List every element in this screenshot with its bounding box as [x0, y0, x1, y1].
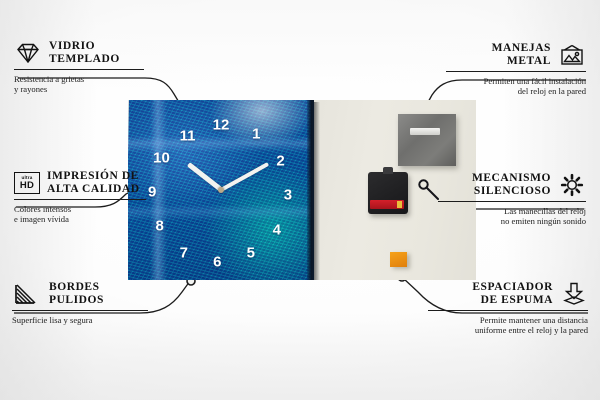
clock-numeral-12: 12 [213, 118, 230, 133]
clock-numeral-9: 9 [148, 184, 156, 199]
feature-title: MANEJAS METAL [492, 42, 551, 68]
feature-header: VIDRIO TEMPLADO [14, 40, 144, 66]
wall-clock-face: 12 1 2 3 4 5 6 7 8 9 10 11 [128, 100, 314, 280]
feature-header: ultra HD IMPRESIÓN DE ALTA CALIDAD [14, 170, 146, 196]
feature-title: IMPRESIÓN DE ALTA CALIDAD [47, 170, 140, 196]
clock-numeral-10: 10 [153, 150, 170, 165]
hanger-slot [410, 128, 440, 135]
feature-title: VIDRIO TEMPLADO [49, 40, 120, 66]
feature-header: MANEJAS METAL [446, 42, 586, 68]
picture-hanger-icon [558, 43, 586, 67]
wall-hook-icon [417, 178, 439, 200]
feature-foam-spacer: ESPACIADOR DE ESPUMA Permite mantener un… [428, 281, 588, 336]
feature-polished-edges: BORDES PULIDOS Superficie lisa y segura [12, 281, 148, 325]
clock-numeral-8: 8 [155, 219, 163, 234]
feature-divider [446, 71, 586, 72]
feature-high-quality-print: ultra HD IMPRESIÓN DE ALTA CALIDAD Color… [14, 170, 146, 225]
clock-numeral-6: 6 [213, 255, 221, 270]
product-photo: 12 1 2 3 4 5 6 7 8 9 10 11 [128, 100, 476, 280]
clock-numeral-5: 5 [247, 246, 255, 261]
clock-minute-hand [220, 162, 269, 192]
striped-triangle-icon [12, 282, 42, 306]
feature-divider [14, 199, 146, 200]
clock-numeral-3: 3 [284, 188, 292, 203]
feature-title: ESPACIADOR DE ESPUMA [472, 281, 553, 307]
clock-second-hand [128, 100, 129, 160]
feature-description: Colores intensos e imagen vívida [14, 204, 146, 225]
clock-numeral-7: 7 [180, 246, 188, 261]
feature-divider [428, 310, 588, 311]
clock-mechanism [368, 172, 408, 214]
feature-header: BORDES PULIDOS [12, 281, 148, 307]
feature-description: Resistencia a grietas y rayones [14, 74, 144, 95]
ultra-hd-main-label: HD [20, 181, 34, 191]
ultra-hd-icon: ultra HD [14, 172, 40, 194]
battery [370, 200, 404, 209]
diamond-icon [14, 41, 42, 65]
feature-silent-mechanism: MECANISMO SILENCIOSO Las manecillas del … [438, 172, 586, 227]
clock-numeral-2: 2 [276, 154, 284, 169]
feature-metal-hangers: MANEJAS METAL Permiten una fácil instala… [446, 42, 586, 97]
feature-title: MECANISMO SILENCIOSO [472, 172, 551, 198]
metal-hanger-plate [398, 114, 456, 166]
feature-description: Las manecillas del reloj no emiten ningú… [438, 206, 586, 227]
clock-numeral-4: 4 [273, 222, 281, 237]
feature-description: Permiten una fácil instalación del reloj… [446, 76, 586, 97]
clock-hour-hand [186, 162, 222, 192]
gear-icon [558, 172, 586, 198]
infographic-canvas: 12 1 2 3 4 5 6 7 8 9 10 11 [0, 0, 600, 400]
foam-spacer [390, 252, 407, 267]
clock-center-cap [218, 187, 224, 193]
feature-tempered-glass: VIDRIO TEMPLADO Resistencia a grietas y … [14, 40, 144, 95]
feature-header: ESPACIADOR DE ESPUMA [428, 281, 588, 307]
feature-header: MECANISMO SILENCIOSO [438, 172, 586, 198]
feature-divider [438, 201, 586, 202]
clock-numeral-1: 1 [252, 127, 260, 142]
mechanism-shaft [383, 167, 393, 174]
clock-drop-shadow [314, 102, 320, 280]
feature-divider [14, 69, 144, 70]
feature-title: BORDES PULIDOS [49, 281, 104, 307]
clock-numeral-11: 11 [180, 129, 196, 144]
feature-divider [12, 310, 148, 311]
feature-description: Permite mantener una distancia uniforme … [428, 315, 588, 336]
arrow-down-pad-icon [560, 281, 588, 307]
feature-description: Superficie lisa y segura [12, 315, 148, 325]
